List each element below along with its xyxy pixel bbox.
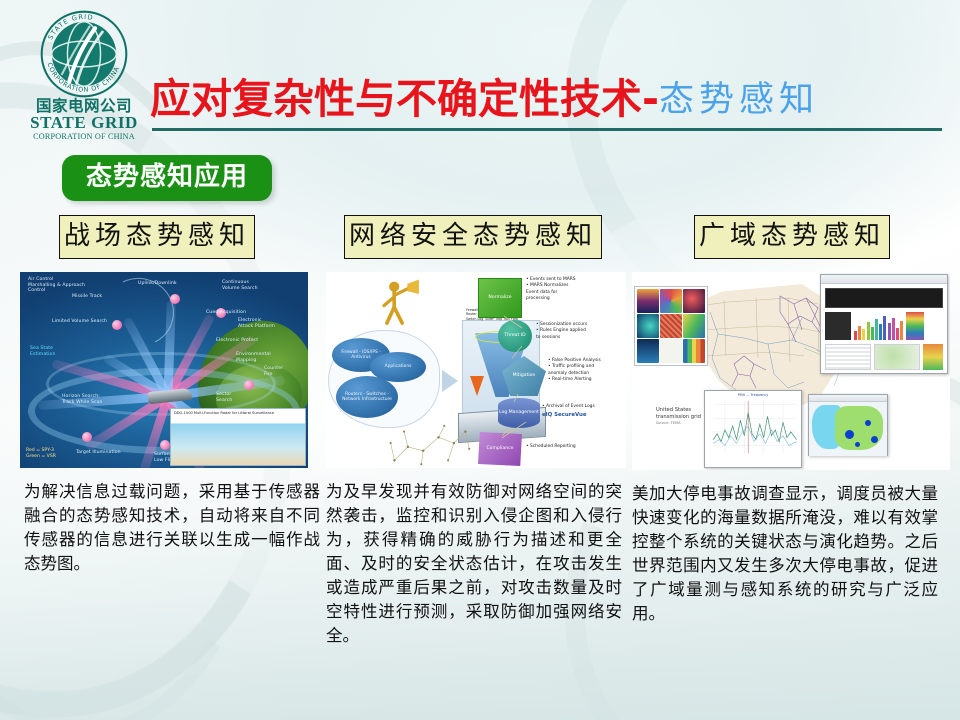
flow-arrow-icon	[442, 370, 458, 392]
logo-subtitle-en: CORPORATION OF CHINA	[18, 132, 150, 141]
figure-label: Electronic Attack Platform	[238, 318, 275, 329]
figure-label: Environmental Mapping	[236, 352, 271, 363]
figure-label: Cued Acquisition	[206, 310, 246, 316]
column-heading-wide-area: 广域态势感知	[694, 215, 890, 259]
stage-bullets-log-management: • Archival of Event Logs	[542, 404, 595, 410]
stage-bullets-threat-id: • Sessionization occurs • Rules Engine a…	[536, 322, 587, 341]
column-caption-battlefield: 为解决信息过载问题，采用基于传感器融合的态势感知技术，自动将来自不同传感器的信息…	[24, 480, 320, 576]
figure-label: Air Control Marshalling & Approach Contr…	[28, 277, 85, 294]
thumbnail	[660, 314, 682, 338]
column-wide-area: 广域态势感知	[632, 215, 954, 626]
map-source-text: Source: FEMA	[656, 421, 701, 426]
figure-battlefield-situation-awareness: Air Control Marshalling & Approach Contr…	[20, 272, 308, 468]
column-caption-wide-area: 美加大停电事故调查显示，调度员被大量快速变化的海量数据所淹没，难以有效掌控整个系…	[632, 482, 938, 626]
thumbnail	[637, 314, 659, 338]
figure-label: Sea State Estimation	[30, 346, 55, 357]
slide-canvas: STATE GRID CORPORATION OF CHINA 国家电网公司 S…	[0, 0, 960, 720]
stage-log-management: Log Management	[498, 398, 540, 428]
stage-normalize: Normalize	[478, 278, 522, 318]
stage-threat-id: Threat ID	[498, 320, 532, 352]
figure-label: Target Illumination	[76, 450, 121, 456]
figure-label: Counter Fire	[264, 366, 283, 377]
figure-inset-panel: DDG-1000 Multi-Function Radar for Littor…	[170, 408, 306, 466]
state-grid-logo: STATE GRID CORPORATION OF CHINA 国家电网公司 S…	[18, 8, 150, 141]
column-caption-cyber-security: 为及早发现并有效防御对网络空间的突然袭击，监控和识别入侵企图和入侵行为，获得精确…	[326, 480, 622, 649]
column-cyber-security: 网络安全态势感知 Firewall - IDS/IPS - Antivirus	[322, 215, 630, 649]
thumbnail	[683, 289, 705, 313]
figure-canvas: Firewall - IDS/IPS - Antivirus Applicati…	[326, 272, 626, 468]
figure-label: Electronic Protect	[216, 338, 258, 344]
logo-name-en: STATE GRID	[18, 114, 150, 131]
map-caption-text: United States transmission grid	[656, 407, 701, 420]
page-title-main: 应对复杂性与不确定性技术-	[150, 79, 659, 120]
logo-name-cn: 国家电网公司	[18, 98, 150, 114]
page-title: 应对复杂性与不确定性技术- 态势感知	[150, 58, 950, 120]
page-title-accent: 态势感知	[659, 83, 819, 120]
stage-compliance: Compliance	[478, 432, 522, 466]
sensor-node	[82, 432, 92, 442]
figure-inset-caption: DDG-1000 Multi-Function Radar for Littor…	[171, 409, 305, 416]
operations-dashboard-panel	[820, 274, 948, 374]
thumbnail	[660, 289, 682, 313]
figure-canvas: PMU — Frequency	[632, 272, 950, 470]
figure-legend: Red = SPY-3 Green = VSR	[26, 448, 56, 460]
thumbnail	[683, 339, 705, 363]
figure-wide-area-situation-awareness: PMU — Frequency	[632, 272, 950, 470]
column-battlefield: 战场态势感知	[14, 215, 320, 576]
figure-label: Horizon Search: Track While Scan	[62, 394, 103, 405]
section-badge: 态势感知应用	[62, 155, 272, 201]
down-arrow-icon	[470, 376, 484, 396]
thumbnail	[660, 339, 682, 363]
title-underline	[152, 128, 942, 131]
figure-label: Sector Search	[216, 392, 232, 403]
figure-label: Limited Volume Search	[52, 319, 107, 325]
map-caption: United States transmission grid Source: …	[656, 400, 701, 433]
thumbnail	[637, 289, 659, 313]
figure-label: Continuous Volume Search	[222, 280, 258, 291]
stage-bullets-normalize: • Events sent to MARS • MARS Normalizes …	[526, 277, 576, 303]
column-heading-cyber-security: 网络安全态势感知	[344, 215, 602, 259]
source-node-routers: Routers - Switches - Network Infrastruct…	[336, 376, 398, 418]
sensor-node	[112, 320, 122, 330]
time-series-chart-panel: PMU — Frequency	[704, 390, 802, 468]
sensor-node	[170, 294, 180, 304]
thumbnail	[683, 314, 705, 338]
figure-label: Missile Track	[72, 294, 102, 300]
frequency-trace-chart	[705, 397, 801, 459]
choropleth-map-panel	[808, 394, 888, 456]
column-heading-battlefield: 战场态势感知	[59, 215, 255, 259]
product-badge: eIQ SecureVue	[542, 412, 586, 420]
sensor-node	[244, 380, 254, 390]
state-grid-emblem-icon: STATE GRID CORPORATION OF CHINA	[38, 8, 130, 100]
network-mesh-graph-icon	[384, 422, 472, 468]
figure-security-event-pipeline: Firewall - IDS/IPS - Antivirus Applicati…	[326, 272, 626, 468]
figure-label: Uplink/Downlink	[138, 281, 177, 287]
thumbnail	[637, 339, 659, 363]
visualization-thumbnail-grid	[634, 286, 708, 366]
stage-bullets-compliance: • Scheduled Reporting	[526, 444, 576, 450]
stage-bullets-mitigation: • False Positive Analysis • Traffic prof…	[548, 358, 601, 384]
person-with-megaphone-icon	[378, 278, 422, 326]
sensor-node	[160, 440, 170, 450]
